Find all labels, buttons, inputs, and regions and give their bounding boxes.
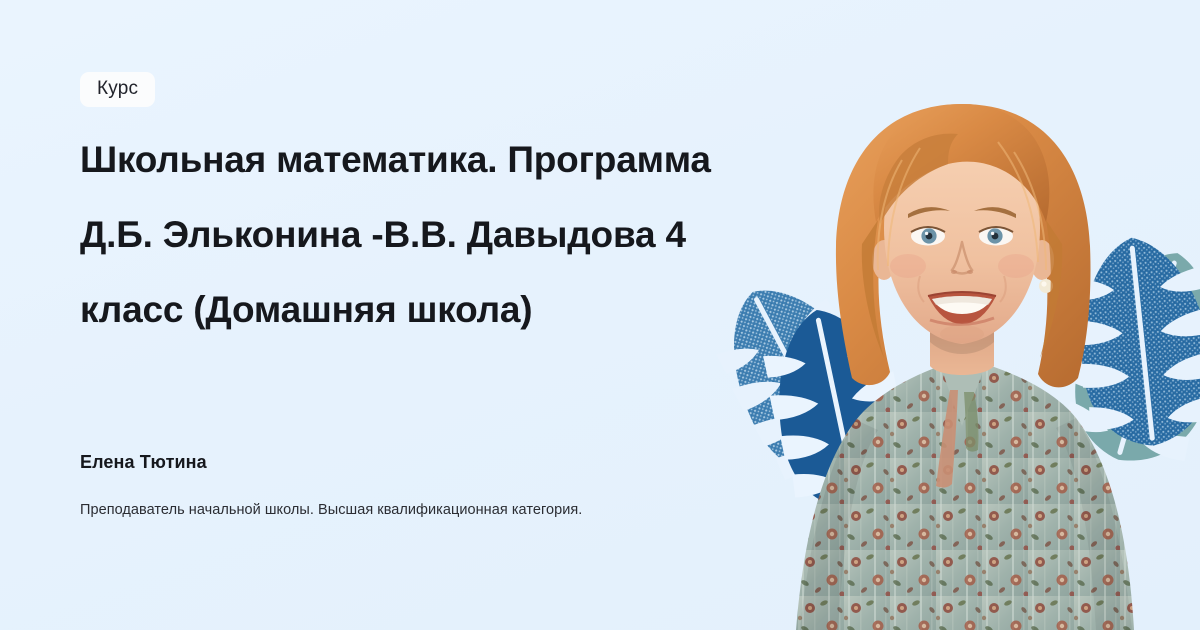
course-promo-card: Курс Школьная математика. Программа Д.Б.…	[0, 0, 1200, 630]
text-column: Курс Школьная математика. Программа Д.Б.…	[80, 0, 840, 630]
eye-right	[979, 227, 1013, 246]
eye-left	[911, 227, 945, 246]
instructor-name: Елена Тютина	[80, 452, 207, 473]
page-title: Школьная математика. Программа Д.Б. Эльк…	[80, 122, 840, 347]
blouse	[796, 356, 1134, 630]
course-type-badge: Курс	[80, 72, 155, 107]
instructor-description: Преподаватель начальной школы. Высшая кв…	[80, 502, 582, 518]
